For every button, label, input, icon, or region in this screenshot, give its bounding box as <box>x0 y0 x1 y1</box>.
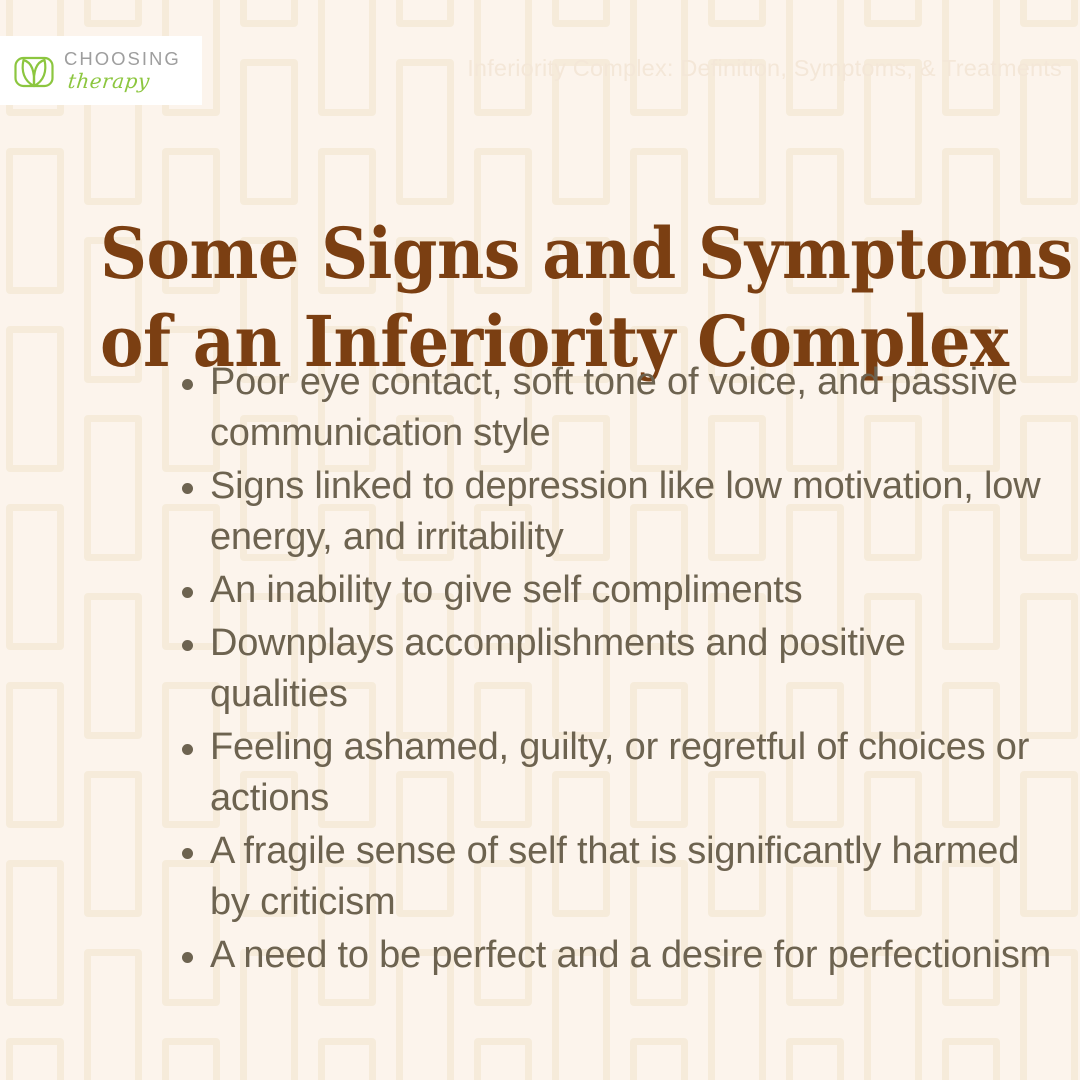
pattern-tile <box>84 593 142 739</box>
list-item: Signs linked to depression like low moti… <box>172 461 1052 563</box>
list-item-text: Feeling ashamed, guilty, or regretful of… <box>210 722 1052 824</box>
pattern-tile <box>786 1038 844 1080</box>
list-item: Poor eye contact, soft tone of voice, an… <box>172 357 1052 459</box>
pattern-tile <box>552 0 610 27</box>
list-item-text: An inability to give self compliments <box>210 565 1052 616</box>
list-item-text: A need to be perfect and a desire for pe… <box>210 930 1052 981</box>
page-title-line-1: Some Signs and Symptoms <box>100 210 937 298</box>
pattern-tile <box>474 1038 532 1080</box>
pattern-tile <box>396 0 454 27</box>
lotus-leaf-icon <box>12 49 56 93</box>
pattern-tile <box>396 59 454 205</box>
list-item: A need to be perfect and a desire for pe… <box>172 930 1052 981</box>
pattern-tile <box>708 0 766 27</box>
pattern-tile <box>864 0 922 27</box>
list-item: Downplays accomplishments and positive q… <box>172 618 1052 720</box>
pattern-tile <box>84 415 142 561</box>
pattern-tile <box>6 504 64 650</box>
pattern-tile <box>84 0 142 27</box>
logo-word-therapy: therapy <box>67 71 182 91</box>
pattern-tile <box>318 0 376 116</box>
logo-wordmark: CHOOSING therapy <box>64 50 181 92</box>
pattern-tile <box>630 1038 688 1080</box>
pattern-tile <box>84 949 142 1080</box>
list-item-text: Downplays accomplishments and positive q… <box>210 618 1052 720</box>
pattern-tile <box>240 59 298 205</box>
pattern-tile <box>6 326 64 472</box>
pattern-tile <box>6 148 64 294</box>
logo[interactable]: CHOOSING therapy <box>0 36 202 105</box>
pattern-tile <box>162 1038 220 1080</box>
pattern-tile <box>6 682 64 828</box>
infographic-canvas: CHOOSING therapy Inferiority Complex: De… <box>0 0 1080 1080</box>
list-item: An inability to give self compliments <box>172 565 1052 616</box>
pattern-tile <box>6 860 64 1006</box>
header-caption: Inferiority Complex: Definition, Symptom… <box>467 55 1062 82</box>
pattern-tile <box>1020 0 1078 27</box>
pattern-tile <box>6 1038 64 1080</box>
list-item: Feeling ashamed, guilty, or regretful of… <box>172 722 1052 824</box>
list-item-text: Poor eye contact, soft tone of voice, an… <box>210 357 1052 459</box>
pattern-tile <box>318 1038 376 1080</box>
logo-word-choosing: CHOOSING <box>64 50 181 69</box>
pattern-tile <box>84 771 142 917</box>
symptom-list: Poor eye contact, soft tone of voice, an… <box>172 357 1052 983</box>
list-item-text: A fragile sense of self that is signific… <box>210 826 1052 928</box>
list-item-text: Signs linked to depression like low moti… <box>210 461 1052 563</box>
pattern-tile <box>240 0 298 27</box>
pattern-tile <box>942 1038 1000 1080</box>
list-item: A fragile sense of self that is signific… <box>172 826 1052 928</box>
